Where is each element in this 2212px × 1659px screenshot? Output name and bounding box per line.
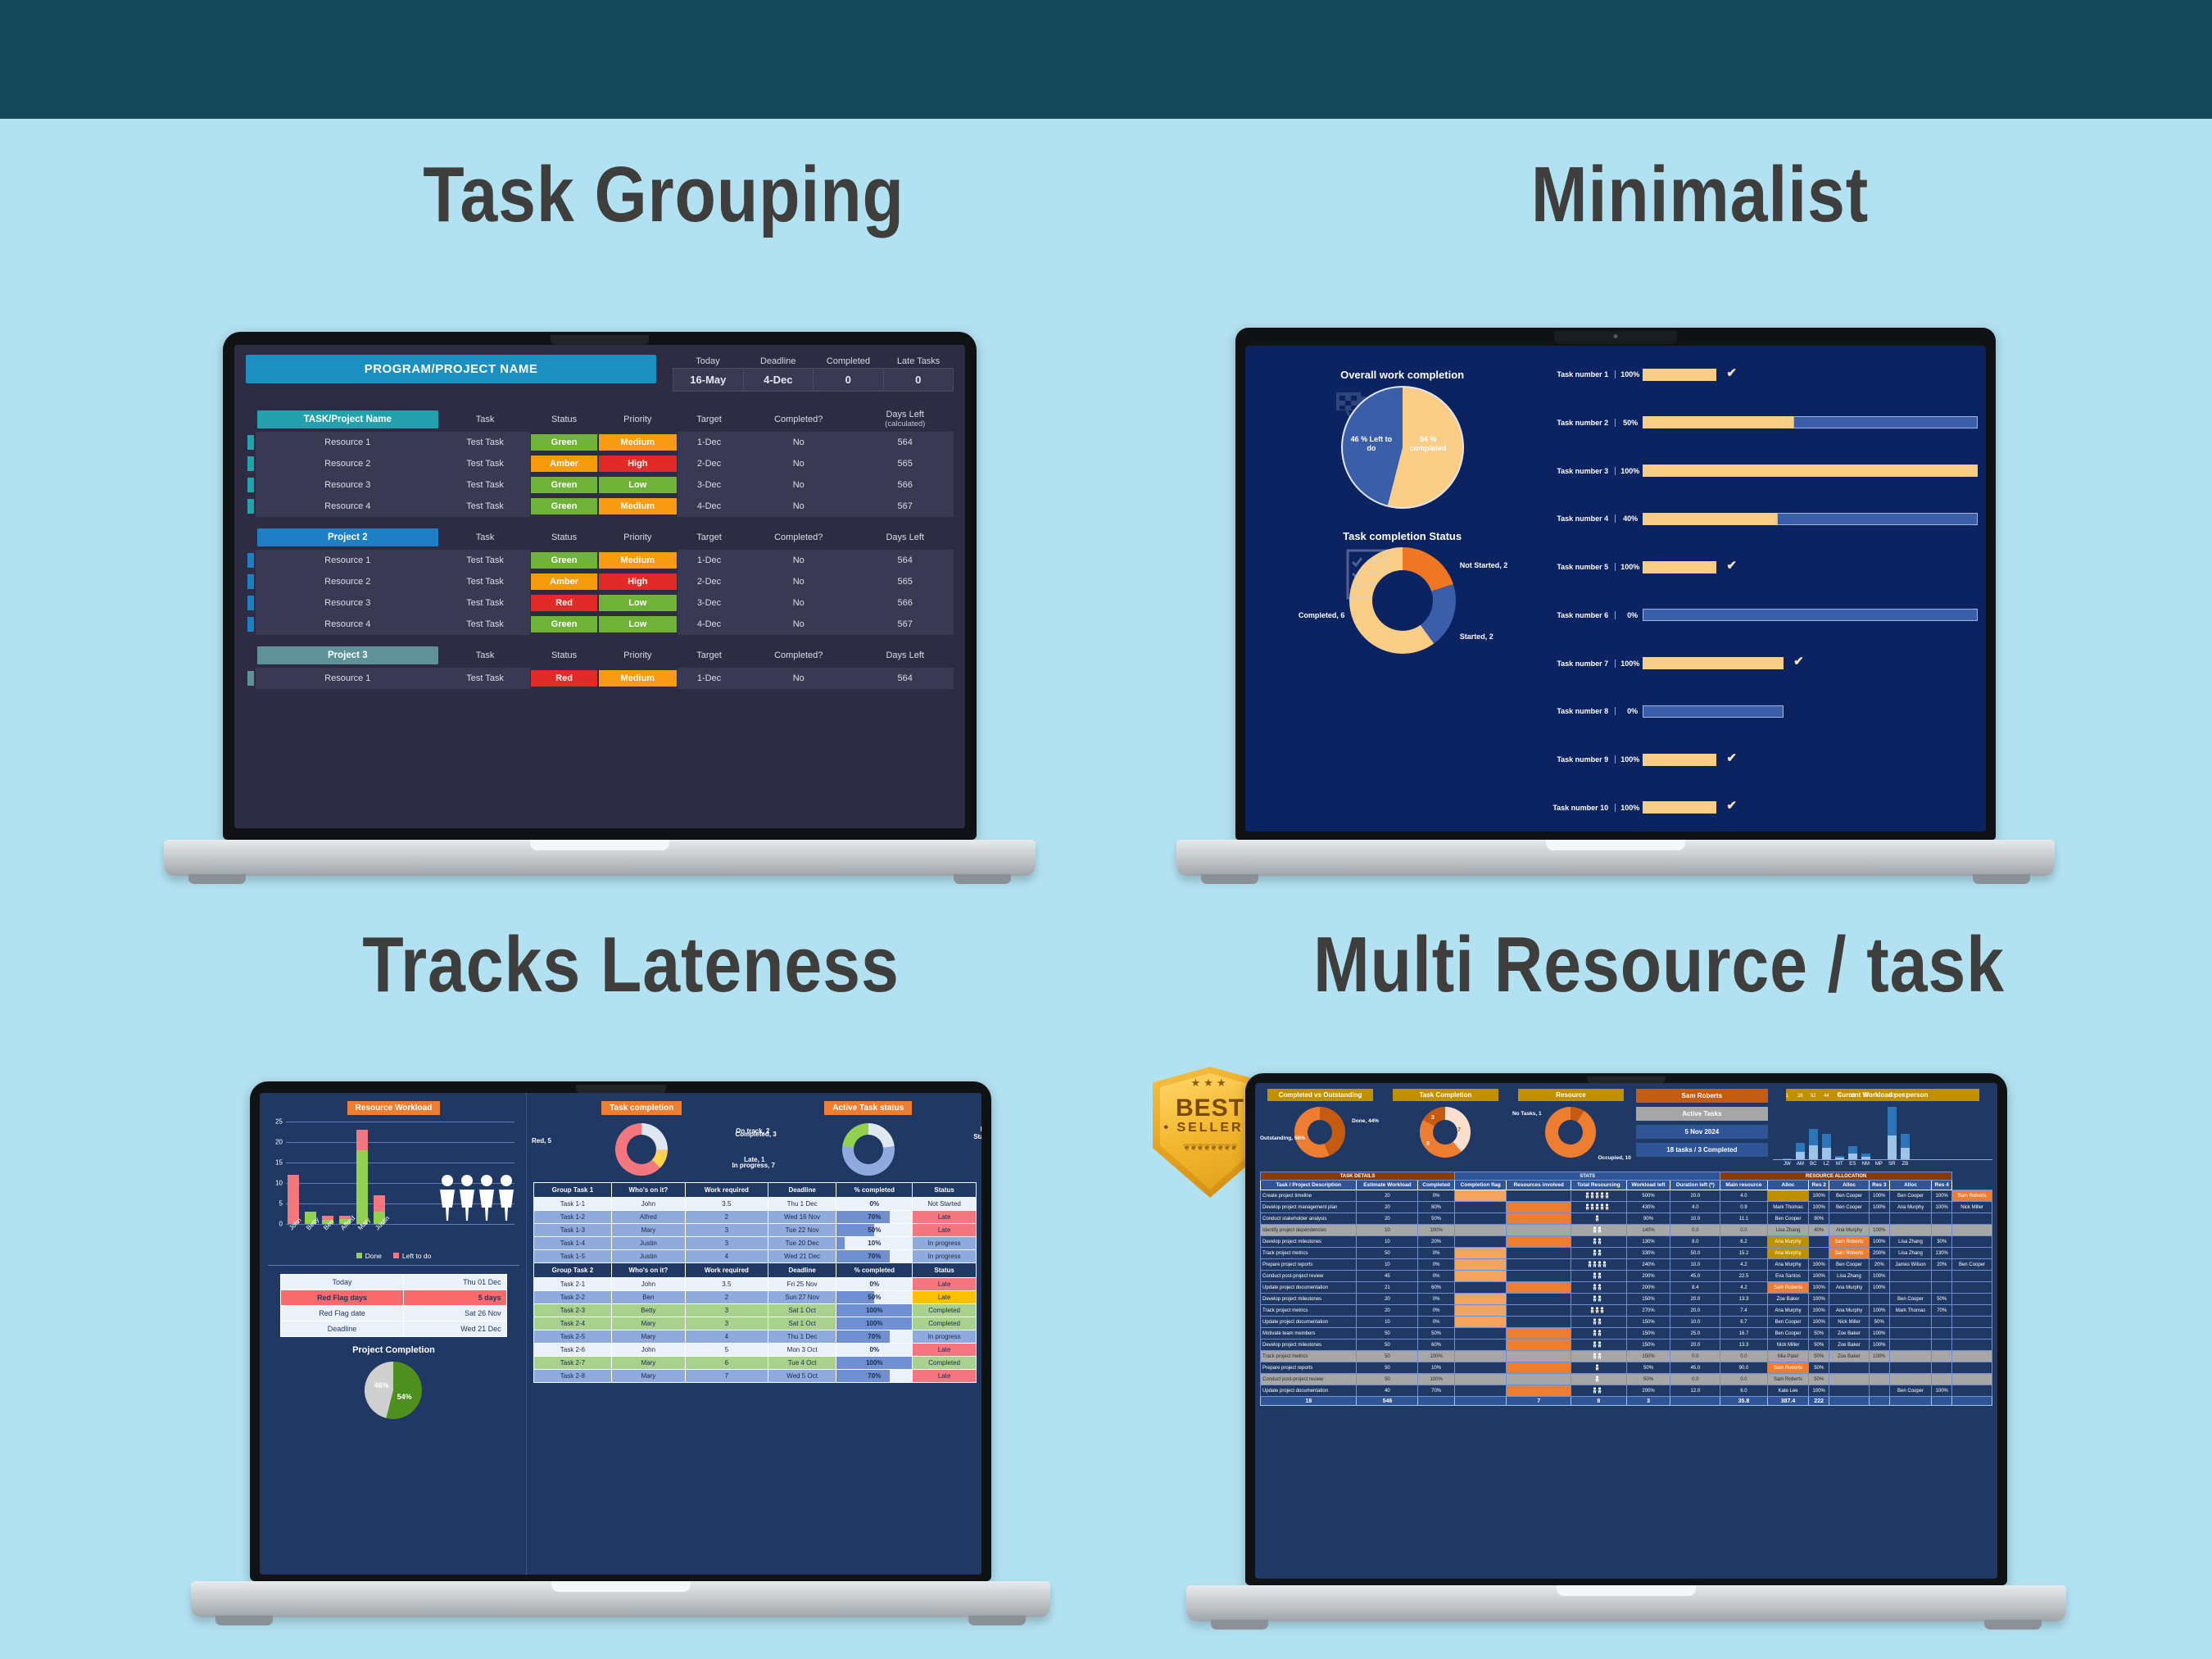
table-row[interactable]: Motivate team members5050%150%25.016.7Be… xyxy=(1261,1328,1992,1339)
cell-res-4 xyxy=(1952,1339,1992,1351)
check-icon: ✔ xyxy=(1726,752,1737,764)
cell-completed: 100% xyxy=(1418,1351,1455,1362)
cell-task: Task 2-3 xyxy=(533,1304,611,1317)
cell-resource: Resource 2 xyxy=(256,571,440,592)
cell-duration-left: 0.0 xyxy=(1720,1374,1767,1385)
laptop-base xyxy=(1176,840,2055,876)
kpi-panel: Today Deadline Completed Late Tasks 16-M… xyxy=(673,355,954,392)
cell-task: Task 2-4 xyxy=(533,1317,611,1330)
cell-duration-left: 6.2 xyxy=(1720,1236,1767,1248)
cell-alloc-3: 70% xyxy=(1932,1305,1952,1317)
cell-task: Task 2-2 xyxy=(533,1291,611,1304)
cell-days-left: 564 xyxy=(856,432,954,453)
cell-target: 1-Dec xyxy=(678,432,741,453)
table-row[interactable]: Resource 1Test TaskGreenMedium1-DecNo564 xyxy=(246,550,954,571)
cell-res-3 xyxy=(1889,1339,1932,1351)
cell-main-resource: Lisa Zhang xyxy=(1767,1225,1809,1236)
group-accent-bar xyxy=(247,574,254,589)
cell-task: Task 2-7 xyxy=(533,1357,611,1370)
cell-alloc-1: 40% xyxy=(1809,1225,1829,1236)
table-row[interactable]: Resource 4Test TaskGreenLow4-DecNo567 xyxy=(246,614,954,635)
table-row[interactable]: Task 2-2Ben2Sun 27 Nov50%Late xyxy=(533,1291,976,1304)
flag-spacer xyxy=(1507,1351,1571,1362)
resource-workload-chart: 2520151050 xyxy=(268,1122,519,1224)
cell-workload-left: 50.0 xyxy=(1670,1248,1720,1259)
cell-res-4 xyxy=(1952,1225,1992,1236)
table-row[interactable]: Task 2-4Mary3Sat 1 Oct100%Completed xyxy=(533,1317,976,1330)
table-row[interactable]: Track project metrics50100%150%0.00.0Mia… xyxy=(1261,1351,1992,1362)
donut-value-8: 8 xyxy=(1426,1141,1430,1147)
cell-main-resource: Zoe Baker xyxy=(1767,1294,1809,1305)
cell-duration-left: 4.2 xyxy=(1720,1282,1767,1294)
cell-workload: 45 xyxy=(1357,1271,1418,1282)
cell-task: Task 1-3 xyxy=(533,1224,611,1237)
x-axis-label: MT xyxy=(1835,1162,1844,1167)
quadrant-title-tracks-lateness: Tracks Lateness xyxy=(88,926,1173,1004)
cell-completed: No xyxy=(741,550,856,571)
table-row[interactable]: Resource 3Test TaskGreenLow3-DecNo566 xyxy=(246,474,954,496)
table-row[interactable]: Resource 1Test TaskRedMedium1-DecNo564 xyxy=(246,668,954,689)
info-value: Thu 01 Dec xyxy=(403,1275,506,1290)
cell-duration-left: 15.2 xyxy=(1720,1248,1767,1259)
status-badge: Late xyxy=(913,1224,977,1237)
column-header: Work required xyxy=(685,1183,768,1198)
side-button-stack: Sam Roberts Active Tasks 5 Nov 2024 18 t… xyxy=(1636,1089,1768,1157)
donut-label-not-started: Not Started, 2 xyxy=(1460,561,1508,569)
column-header: Days Left(calculated) xyxy=(856,406,954,432)
button-task-count[interactable]: 18 tasks / 3 Completed xyxy=(1636,1143,1768,1157)
cell-workload: 10 xyxy=(1357,1317,1418,1328)
column-header: Task xyxy=(440,406,531,432)
task-name: Task number 10 xyxy=(1551,804,1615,812)
cell-description: Track project metrics xyxy=(1261,1351,1357,1362)
section-header-stats: STATS xyxy=(1454,1172,1720,1181)
x-axis-label: ES xyxy=(1848,1162,1857,1167)
status-badge: Amber xyxy=(531,456,596,472)
cell-percent: 70% xyxy=(836,1250,913,1263)
completion-flag xyxy=(1507,1282,1571,1294)
flag-spacer xyxy=(1507,1225,1571,1236)
bar-segment-top xyxy=(1822,1134,1831,1148)
table-row[interactable]: Prepare project reports5010%50%45.090.0S… xyxy=(1261,1362,1992,1374)
task-name: Task number 7 xyxy=(1551,660,1615,668)
cell-alloc-2 xyxy=(1869,1294,1889,1305)
current-workload-chart: Current Workload per person 128524462310… xyxy=(1773,1089,1992,1167)
task-progress-row: Task number 60% xyxy=(1551,605,1978,626)
group-pill[interactable]: Project 3 xyxy=(257,646,438,664)
cell-duration-left: 4.0 xyxy=(1720,1190,1767,1202)
cell-workload: 50 xyxy=(1357,1374,1418,1385)
table-row[interactable]: Conduct stakeholder analysis2050%90%10.0… xyxy=(1261,1213,1992,1225)
summary-cell: 7 xyxy=(1507,1397,1571,1406)
table-row[interactable]: Task 2-7Mary6Tue 4 Oct100%Completed xyxy=(533,1357,976,1370)
project-dates-table: TodayThu 01 DecRed Flag days5 daysRed Fl… xyxy=(280,1274,506,1337)
cell-alloc-1: 100% xyxy=(1809,1190,1829,1202)
bar-column: 43 xyxy=(1901,1101,1910,1159)
cell-duration-left: 13.3 xyxy=(1720,1339,1767,1351)
cell-workload: 20 xyxy=(1357,1202,1418,1213)
status-badge: Green xyxy=(531,498,596,514)
status-badge: Late xyxy=(913,1278,977,1291)
cell-deadline: Wed 21 Dec xyxy=(768,1250,836,1263)
cell-deadline: Tue 20 Dec xyxy=(768,1237,836,1250)
legend-done: Done xyxy=(356,1252,382,1260)
cell-resources-involved xyxy=(1571,1328,1626,1339)
table-row[interactable]: Identify project dependencies10100%140%0… xyxy=(1261,1225,1992,1236)
cell-completed: No xyxy=(741,453,856,474)
completion-flag xyxy=(1454,1317,1507,1328)
cell-res-3 xyxy=(1889,1317,1932,1328)
task-group-header: Group Task 1Who's on it?Work requiredDea… xyxy=(533,1183,976,1198)
column-header: Alloc xyxy=(1767,1181,1809,1190)
cell-res-3: Lisa Zhang xyxy=(1889,1236,1932,1248)
table-row[interactable]: Task 1-3Mary3Tue 22 Nov50%Late xyxy=(533,1224,976,1237)
x-axis-label: SR xyxy=(1888,1162,1897,1167)
completion-flag xyxy=(1454,1305,1507,1317)
cell-workload: 20 xyxy=(1357,1190,1418,1202)
cell-deadline: Tue 4 Oct xyxy=(768,1357,836,1370)
cell-target: 1-Dec xyxy=(678,550,741,571)
cell-res-2: Ben Cooper xyxy=(1829,1202,1870,1213)
cell-resources-involved xyxy=(1571,1385,1626,1397)
cell-completed: 0% xyxy=(1418,1248,1455,1259)
table-row[interactable]: Update project documentation4070%200%12.… xyxy=(1261,1385,1992,1397)
flag-spacer xyxy=(1507,1271,1571,1282)
cell-alloc-1: 50% xyxy=(1809,1351,1829,1362)
cell-completed: 80% xyxy=(1418,1202,1455,1213)
table-row[interactable]: Conduct post-project review50100%50%0.00… xyxy=(1261,1374,1992,1385)
summary-cell xyxy=(1869,1397,1889,1406)
cell-alloc-1: 90% xyxy=(1809,1213,1829,1225)
cell-resources-involved xyxy=(1571,1213,1626,1225)
task-group-header: Group Task 2Who's on it?Work requiredDea… xyxy=(533,1263,976,1278)
table-row[interactable]: Task 2-6John5Mon 3 Oct0%Late xyxy=(533,1344,976,1357)
info-row: Red Flag dateSat 26 Nov xyxy=(281,1306,506,1321)
cell-completed: 0% xyxy=(1418,1259,1455,1271)
table-row[interactable]: Task 1-5Justin4Wed 21 Dec70%In progress xyxy=(533,1250,976,1263)
table-row[interactable]: Resource 4Test TaskGreenMedium4-DecNo567 xyxy=(246,496,954,517)
button-sam-roberts[interactable]: Sam Roberts xyxy=(1636,1089,1768,1103)
person-icon xyxy=(1593,1249,1604,1256)
summary-cell xyxy=(1418,1397,1455,1406)
cell-res-2: Ana Murphy xyxy=(1829,1282,1870,1294)
cell-task: Task 2-8 xyxy=(533,1370,611,1383)
button-date[interactable]: 5 Nov 2024 xyxy=(1636,1125,1768,1139)
bar-column xyxy=(339,1122,351,1224)
table-row[interactable]: Develop project milestones200%150%20.013… xyxy=(1261,1294,1992,1305)
flag-spacer xyxy=(1507,1305,1571,1317)
column-header: Workload left xyxy=(1626,1181,1670,1190)
completion-flag xyxy=(1454,1248,1507,1259)
table-row[interactable]: Task 1-4Justin3Tue 20 Dec10%In progress xyxy=(533,1237,976,1250)
table-row[interactable]: Task 2-1John3.5Fri 25 Nov0%Late xyxy=(533,1278,976,1291)
cell-resources-involved xyxy=(1571,1202,1626,1213)
cell-res-3 xyxy=(1889,1213,1932,1225)
table-row[interactable]: Create project timeline200%500%20.04.010… xyxy=(1261,1190,1992,1202)
x-axis-label: MP xyxy=(1874,1162,1883,1167)
task-progress-row: Task number 80% xyxy=(1551,700,1978,722)
task-progress-row: Task number 10100%✔ xyxy=(1551,797,1978,818)
overall-completion-pie: 54 %completed 46 % Left todo xyxy=(1341,386,1464,509)
status-badge: Not Started xyxy=(913,1198,977,1211)
table-row[interactable]: Task 1-2Alfred2Wed 16 Nov70%Late xyxy=(533,1211,976,1224)
donut-value-3: 3 xyxy=(1431,1115,1435,1121)
table-row[interactable]: Task 2-8Mary7Wed 5 Oct70%Late xyxy=(533,1370,976,1383)
bar-value: 52 xyxy=(1811,1094,1816,1099)
table-row[interactable]: Track project metrics500%330%50.015.2Ana… xyxy=(1261,1248,1992,1259)
cell-alloc-1: 100% xyxy=(1809,1305,1829,1317)
cell-alloc-2: 100% xyxy=(1869,1351,1889,1362)
completion-flag xyxy=(1507,1202,1571,1213)
table-row[interactable]: Task 1-1John3.5Thu 1 Dec0%Not Started xyxy=(533,1198,976,1211)
table-row[interactable]: Conduct post-project review450%200%45.02… xyxy=(1261,1271,1992,1282)
column-header: Res 3 xyxy=(1869,1181,1889,1190)
cell-work: 3 xyxy=(685,1304,768,1317)
donut-label-red: Red, 5 xyxy=(532,1137,551,1145)
cell-who: Mary xyxy=(611,1357,685,1370)
status-badge: Late xyxy=(913,1344,977,1357)
column-header: Status xyxy=(530,643,597,668)
cell-res-2: Nick Miller xyxy=(1829,1317,1870,1328)
task-progress-row: Task number 9100%✔ xyxy=(1551,749,1978,770)
cell-alloc-1 xyxy=(1809,1248,1829,1259)
progress-track xyxy=(1643,705,1978,718)
cell-res-3: Ben Cooper xyxy=(1889,1294,1932,1305)
cell-res-2: Lisa Zhang xyxy=(1829,1271,1870,1282)
cell-alloc-3: 20% xyxy=(1932,1259,1952,1271)
cell-res-4 xyxy=(1952,1328,1992,1339)
table-row[interactable]: Develop project management plan2080%430%… xyxy=(1261,1202,1992,1213)
cell-workload-left: 20.0 xyxy=(1670,1190,1720,1202)
cell-duration-left: 11.1 xyxy=(1720,1213,1767,1225)
donut-resource xyxy=(1545,1107,1596,1158)
table-row[interactable]: Task 2-3Betty3Sat 1 Oct100%Completed xyxy=(533,1304,976,1317)
info-label: Today xyxy=(281,1275,403,1290)
cell-main-resource: Ana Murphy xyxy=(1767,1259,1809,1271)
group-pill[interactable]: Project 2 xyxy=(257,528,438,546)
cell-resources-involved xyxy=(1571,1339,1626,1351)
overall-work-completion-title: Overall work completion xyxy=(1258,369,1546,381)
status-badge: In progress xyxy=(913,1250,977,1263)
table-row[interactable]: Resource 3Test TaskRedLow3-DecNo566 xyxy=(246,592,954,614)
cell-deadline: Mon 3 Oct xyxy=(768,1344,836,1357)
check-icon: ✔ xyxy=(1726,560,1737,572)
table-row[interactable]: Task 2-5Mary4Thu 1 Dec70%In progress xyxy=(533,1330,976,1344)
y-axis-tick: 15 xyxy=(275,1159,283,1167)
cell-res-3 xyxy=(1889,1328,1932,1339)
task-completion-donut xyxy=(615,1123,668,1176)
screen-tracks-lateness: Resource Workload 2520151050 xyxy=(260,1093,981,1575)
donut-label-outstanding: Outstanding, 56% xyxy=(1260,1135,1305,1141)
cell-main-resource: Sam Roberts xyxy=(1767,1374,1809,1385)
cell-workload-left: 20.0 xyxy=(1670,1339,1720,1351)
progress-track xyxy=(1643,609,1978,621)
x-axis-label: BC xyxy=(1809,1162,1818,1167)
cell-resources-involved xyxy=(1571,1374,1626,1385)
flag-spacer xyxy=(1454,1339,1507,1351)
summary-cell: 8 xyxy=(1571,1397,1626,1406)
person-icon xyxy=(1593,1226,1604,1233)
completion-flag xyxy=(1454,1271,1507,1282)
laptop-foot-right xyxy=(1973,874,2030,884)
column-header: Estimate Workload xyxy=(1357,1181,1418,1190)
workload-legend: Done Left to do xyxy=(268,1252,519,1260)
cell-alloc-3: 100% xyxy=(1932,1385,1952,1397)
table-row[interactable]: Resource 2Test TaskAmberHigh2-DecNo565 xyxy=(246,453,954,474)
summary-cell: 18 xyxy=(1261,1397,1357,1406)
person-icon xyxy=(1593,1295,1604,1302)
column-header: Deadline xyxy=(768,1263,836,1278)
column-header: Days Left xyxy=(856,643,954,668)
table-row[interactable]: Develop project milestones5060%150%20.01… xyxy=(1261,1339,1992,1351)
project-name-banner[interactable]: PROGRAM/PROJECT NAME xyxy=(246,355,656,383)
cell-total-resourcing: 430% xyxy=(1626,1202,1670,1213)
cell-duration-left: 6.7 xyxy=(1720,1317,1767,1328)
person-icon xyxy=(1595,1215,1602,1222)
cell-res-2: Zoe Baker xyxy=(1829,1328,1870,1339)
cell-res-4 xyxy=(1952,1351,1992,1362)
progress-track: ✔ xyxy=(1643,561,1978,573)
cell-percent: 50% xyxy=(836,1224,913,1237)
cell-task: Test Task xyxy=(440,550,531,571)
bar-value: 44 xyxy=(1824,1094,1829,1099)
group-pill[interactable]: TASK/Project Name xyxy=(257,410,438,428)
y-axis-tick: 0 xyxy=(279,1221,283,1228)
cell-completed: 10% xyxy=(1418,1362,1455,1374)
bar-column xyxy=(356,1122,368,1224)
cell-res-2: Ana Murphy xyxy=(1829,1225,1870,1236)
cell-task: Test Task xyxy=(440,668,531,689)
table-row[interactable]: Update project documentation100%150%10.0… xyxy=(1261,1317,1992,1328)
cell-alloc-2: 100% xyxy=(1869,1339,1889,1351)
status-badge: Amber xyxy=(531,573,596,590)
cell-res-3: Mark Thomas xyxy=(1889,1305,1932,1317)
cell-resources-involved xyxy=(1571,1282,1626,1294)
cell-total-resourcing: 150% xyxy=(1626,1328,1670,1339)
cell-target: 1-Dec xyxy=(678,668,741,689)
priority-badge: Low xyxy=(599,477,677,493)
table-row[interactable]: Track project metrics200%270%20.07.4Ana … xyxy=(1261,1305,1992,1317)
cell-main-resource: Ana Murphy xyxy=(1767,1236,1809,1248)
bar-segment-top xyxy=(1901,1134,1910,1148)
bar-column xyxy=(322,1122,333,1224)
cell-target: 4-Dec xyxy=(678,496,741,517)
cell-alloc-1: 50% xyxy=(1809,1374,1829,1385)
cell-workload-left: 8.0 xyxy=(1670,1236,1720,1248)
cell-total-resourcing: 330% xyxy=(1626,1248,1670,1259)
screen-task-grouping: PROGRAM/PROJECT NAME Today Deadline Comp… xyxy=(234,345,965,828)
cell-who: Justin xyxy=(611,1237,685,1250)
cell-res-3 xyxy=(1889,1374,1932,1385)
cell-percent: 70% xyxy=(836,1330,913,1344)
cell-alloc-2: 200% xyxy=(1869,1248,1889,1259)
column-header: Completed xyxy=(1418,1181,1455,1190)
laptop-lid: PROGRAM/PROJECT NAME Today Deadline Comp… xyxy=(223,332,977,840)
cell-days-left: 567 xyxy=(856,496,954,517)
cell-main-resource: Kate Lee xyxy=(1767,1385,1809,1397)
cell-target: 3-Dec xyxy=(678,592,741,614)
cell-alloc-1: 50% xyxy=(1809,1339,1829,1351)
flag-spacer xyxy=(1507,1374,1571,1385)
cell-workload: 50 xyxy=(1357,1362,1418,1374)
bar-segment-bottom xyxy=(1809,1145,1818,1159)
column-header: Completion flag xyxy=(1454,1181,1507,1190)
section-header-resource-allocation: RESOURCE ALLOCATION xyxy=(1720,1172,1952,1181)
completion-flag xyxy=(1507,1213,1571,1225)
column-header: % completed xyxy=(836,1183,913,1198)
person-icon xyxy=(1593,1238,1604,1244)
column-header: Completed? xyxy=(741,525,856,550)
cell-completed: 0% xyxy=(1418,1317,1455,1328)
cell-alloc-3: 100% xyxy=(1932,1190,1952,1202)
cell-res-3: Lisa Zhang xyxy=(1889,1248,1932,1259)
table-row[interactable]: Update project documentation2160%200%8.4… xyxy=(1261,1282,1992,1294)
check-icon: ✔ xyxy=(1726,800,1737,812)
button-active-tasks[interactable]: Active Tasks xyxy=(1636,1107,1768,1121)
flag-spacer xyxy=(1454,1362,1507,1374)
person-icon xyxy=(1593,1330,1604,1336)
bar-segment-bottom xyxy=(1901,1148,1910,1159)
cell-alloc-1: 50% xyxy=(1809,1362,1829,1374)
table-row[interactable]: Resource 2Test TaskAmberHigh2-DecNo565 xyxy=(246,571,954,592)
group-accent-bar xyxy=(247,671,254,686)
column-header: Group Task 1 xyxy=(533,1183,611,1198)
completed-vs-outstanding-card: Completed vs Outstanding Done, 44% Outst… xyxy=(1260,1089,1380,1158)
summary-cell xyxy=(1829,1397,1870,1406)
table-row[interactable]: Develop project milestones1020%130%8.06.… xyxy=(1261,1236,1992,1248)
cell-res-4 xyxy=(1952,1236,1992,1248)
cell-total-resourcing: 140% xyxy=(1626,1225,1670,1236)
status-badge: In progress xyxy=(913,1330,977,1344)
cell-alloc-2: 100% xyxy=(1869,1282,1889,1294)
cell-completed: 70% xyxy=(1418,1385,1455,1397)
chip-resource: Resource xyxy=(1518,1089,1624,1101)
cell-description: Track project metrics xyxy=(1261,1305,1357,1317)
cell-main-resource: Eva Santos xyxy=(1767,1271,1809,1282)
group-header-row: TASK/Project NameTaskStatusPriorityTarge… xyxy=(246,406,954,432)
cell-work: 3.5 xyxy=(685,1278,768,1291)
cell-task: Task 1-1 xyxy=(533,1198,611,1211)
cell-percent: 100% xyxy=(836,1357,913,1370)
cell-alloc-1: 100% xyxy=(1809,1294,1829,1305)
table-row[interactable]: Resource 1Test TaskGreenMedium1-DecNo564 xyxy=(246,432,954,453)
cell-deadline: Thu 1 Dec xyxy=(768,1330,836,1344)
cell-alloc-2 xyxy=(1869,1385,1889,1397)
column-header: Total Resourcing xyxy=(1571,1181,1626,1190)
cell-target: 3-Dec xyxy=(678,474,741,496)
progress-track xyxy=(1643,416,1978,428)
column-header: Target xyxy=(678,643,741,668)
pc-label-done: 54% xyxy=(397,1393,412,1401)
cell-main-resource: Ben Cooper xyxy=(1767,1213,1809,1225)
cell-total-resourcing: 270% xyxy=(1626,1305,1670,1317)
cell-deadline: Sun 27 Nov xyxy=(768,1291,836,1304)
people-illustration xyxy=(437,1173,516,1222)
legend-left-to-do: Left to do xyxy=(393,1252,431,1260)
cell-who: John xyxy=(611,1278,685,1291)
table-row[interactable]: Prepare project reports100%240%10.04.2An… xyxy=(1261,1259,1992,1271)
cell-description: Conduct post-project review xyxy=(1261,1374,1357,1385)
info-label: Deadline xyxy=(281,1321,403,1337)
cell-res-4 xyxy=(1952,1248,1992,1259)
cell-who: Mary xyxy=(611,1370,685,1383)
bar-value: 0 xyxy=(1878,1094,1880,1099)
cell-main-resource: Ana Murphy xyxy=(1767,1248,1809,1259)
cell-total-resourcing: 50% xyxy=(1626,1374,1670,1385)
column-header: Completed? xyxy=(741,406,856,432)
bar-column: 28 xyxy=(1796,1101,1805,1159)
kpi-value-deadline: 4-Dec xyxy=(744,369,814,391)
